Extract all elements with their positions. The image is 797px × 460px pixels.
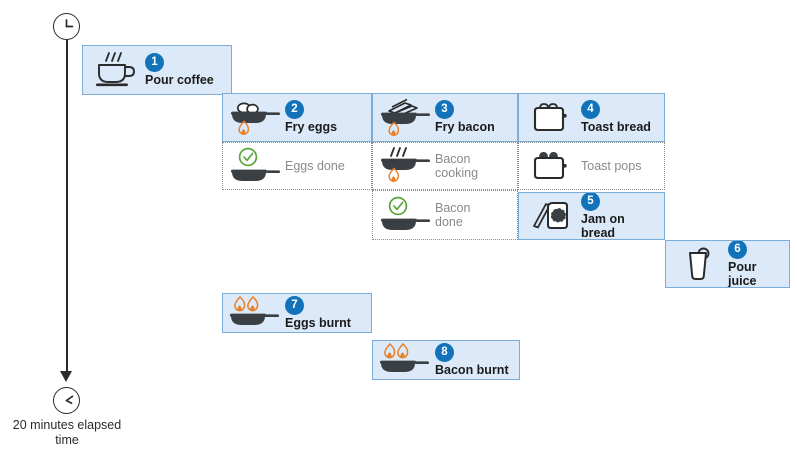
- pan-check-icon: [377, 195, 435, 235]
- step-label: Toast bread: [581, 120, 658, 135]
- frying-pan-eggs-icon: [227, 98, 285, 138]
- step-card-body: 7Eggs burnt: [285, 296, 371, 331]
- juice-glass-icon: [670, 244, 728, 284]
- step-badge: 4: [581, 100, 600, 119]
- step-card-pour-juice[interactable]: 6Pour juice: [665, 240, 790, 288]
- step-label: Fry eggs: [285, 120, 365, 135]
- step-card-body: Bacon cooking: [435, 152, 517, 181]
- step-card-bacon-cooking[interactable]: Bacon cooking: [372, 142, 518, 190]
- timeline-arrowhead: [60, 371, 72, 382]
- timeline-diagram: 20 minutes elapsed time 1Pour coffee2Fry…: [0, 0, 797, 460]
- step-card-pour-coffee[interactable]: 1Pour coffee: [82, 45, 232, 95]
- clock-elapsed-icon: [53, 387, 80, 414]
- step-card-body: Bacon done: [435, 201, 517, 230]
- step-card-jam-on-bread[interactable]: 5Jam on bread: [518, 192, 665, 240]
- step-card-eggs-burnt[interactable]: 7Eggs burnt: [222, 293, 372, 333]
- step-badge: 6: [728, 240, 747, 259]
- step-label: Eggs done: [285, 159, 365, 174]
- frying-pan-bacon-icon: [377, 98, 435, 138]
- step-card-body: Toast pops: [581, 159, 664, 174]
- pan-steam-flame-icon: [377, 146, 435, 186]
- step-card-toast-pops[interactable]: Toast pops: [518, 142, 665, 190]
- jam-on-bread-icon: [523, 196, 581, 236]
- step-label: Pour juice: [728, 260, 783, 289]
- step-label: Eggs burnt: [285, 316, 365, 331]
- step-badge: 5: [581, 192, 600, 211]
- elapsed-time-label: 20 minutes elapsed time: [8, 418, 126, 448]
- step-card-bacon-done[interactable]: Bacon done: [372, 190, 518, 240]
- step-badge: 8: [435, 343, 454, 362]
- pan-burnt-icon: [377, 342, 435, 378]
- toaster-icon: [523, 98, 581, 138]
- step-card-bacon-burnt[interactable]: 8Bacon burnt: [372, 340, 520, 380]
- step-card-body: 5Jam on bread: [581, 192, 664, 240]
- step-badge: 1: [145, 53, 164, 72]
- step-card-fry-eggs[interactable]: 2Fry eggs: [222, 93, 372, 142]
- step-label: Bacon burnt: [435, 363, 513, 378]
- toaster-popped-icon: [523, 146, 581, 186]
- step-card-body: 3Fry bacon: [435, 100, 517, 135]
- step-card-toast-bread[interactable]: 4Toast bread: [518, 93, 665, 142]
- pan-check-icon: [227, 146, 285, 186]
- step-card-body: 4Toast bread: [581, 100, 664, 135]
- timeline-axis-line: [66, 40, 68, 374]
- step-card-body: 8Bacon burnt: [435, 343, 519, 378]
- step-label: Pour coffee: [145, 73, 225, 88]
- step-label: Toast pops: [581, 159, 658, 174]
- step-badge: 2: [285, 100, 304, 119]
- step-label: Bacon done: [435, 201, 511, 230]
- step-badge: 7: [285, 296, 304, 315]
- clock-icon: [53, 13, 80, 40]
- step-card-fry-bacon[interactable]: 3Fry bacon: [372, 93, 518, 142]
- step-card-body: 6Pour juice: [728, 240, 789, 288]
- step-card-body: 2Fry eggs: [285, 100, 371, 135]
- coffee-cup-icon: [87, 50, 145, 90]
- step-card-eggs-done[interactable]: Eggs done: [222, 142, 372, 190]
- step-card-body: 1Pour coffee: [145, 53, 231, 88]
- step-label: Fry bacon: [435, 120, 511, 135]
- step-label: Bacon cooking: [435, 152, 511, 181]
- pan-burnt-icon: [227, 295, 285, 331]
- step-card-body: Eggs done: [285, 159, 371, 174]
- step-badge: 3: [435, 100, 454, 119]
- step-label: Jam on bread: [581, 212, 658, 241]
